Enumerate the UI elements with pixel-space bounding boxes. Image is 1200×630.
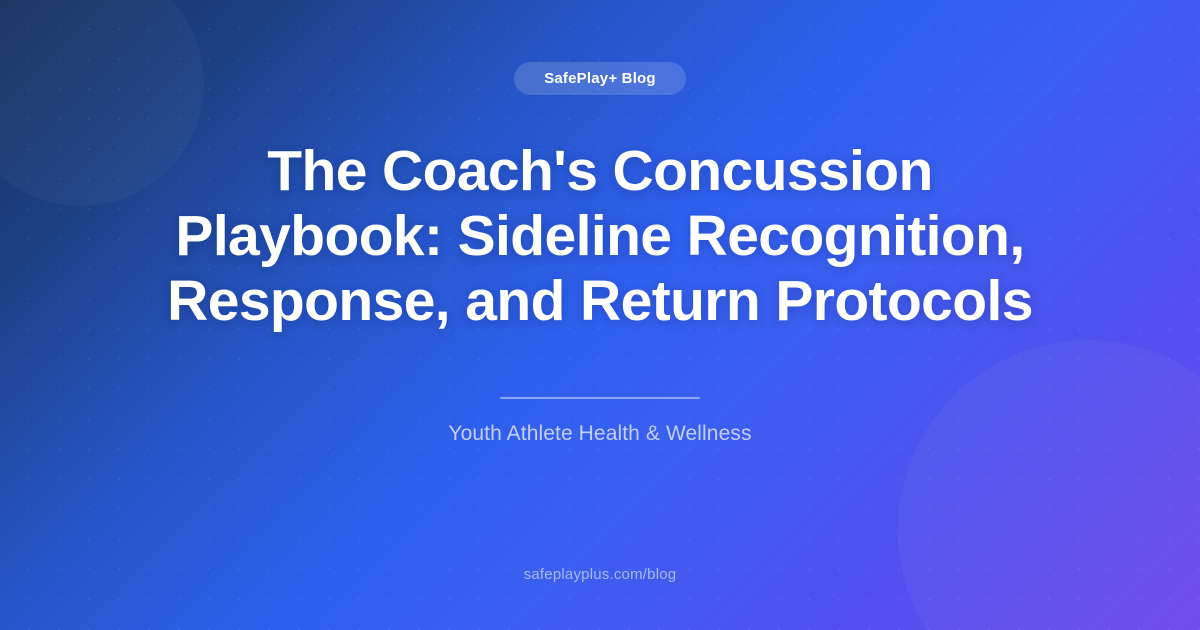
page-title: The Coach's Concussion Playbook: Sidelin… — [150, 139, 1050, 334]
footer-url: safeplayplus.com/blog — [0, 566, 1200, 583]
divider — [500, 397, 700, 399]
blog-og-card: SafePlay+ Blog The Coach's Concussion Pl… — [0, 0, 1200, 630]
subtitle: Youth Athlete Health & Wellness — [448, 422, 751, 446]
blog-badge: SafePlay+ Blog — [514, 62, 686, 95]
card-content: SafePlay+ Blog The Coach's Concussion Pl… — [0, 0, 1200, 630]
